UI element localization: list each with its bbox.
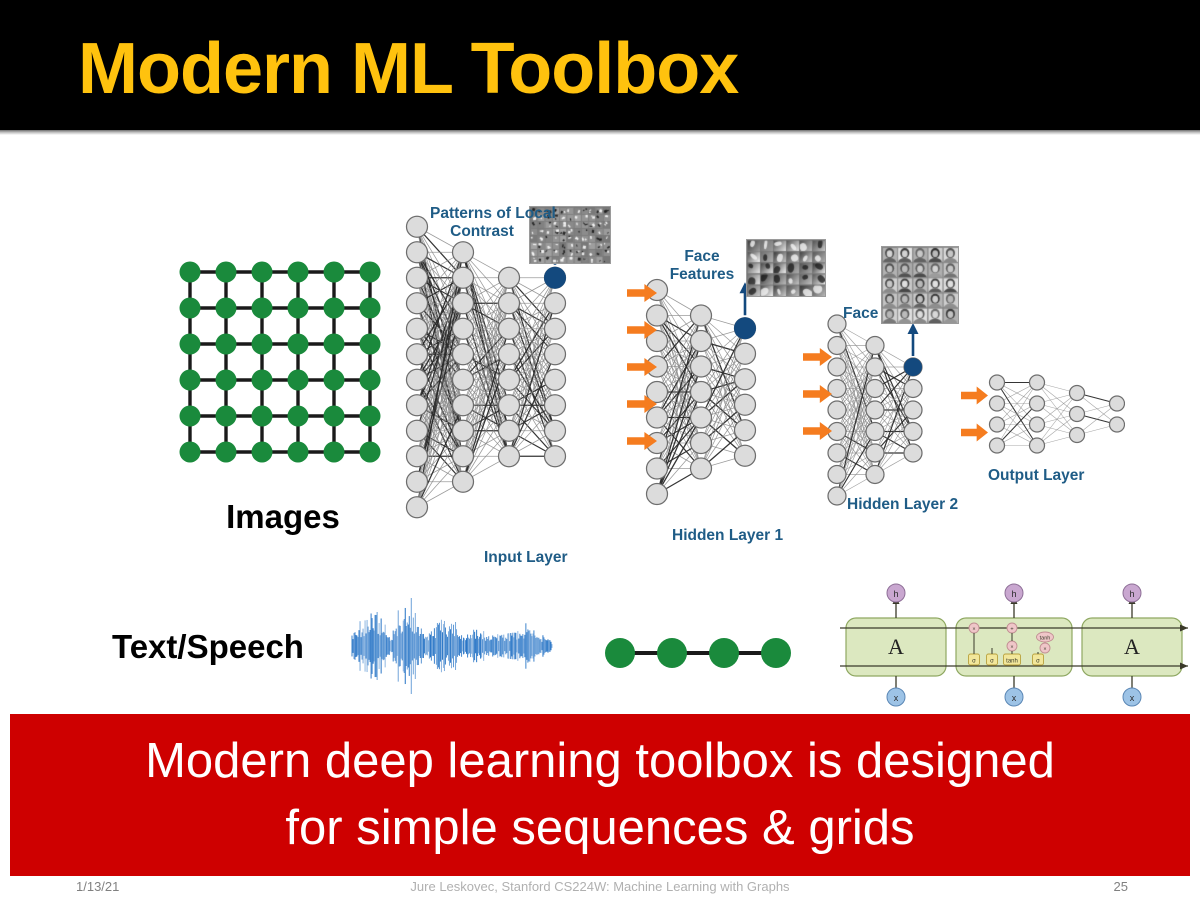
svg-text:h: h	[893, 589, 898, 599]
svg-text:A: A	[1124, 634, 1140, 659]
page-title: Modern ML Toolbox	[78, 28, 738, 110]
slide-header: Modern ML Toolbox	[0, 0, 1200, 130]
label-images: Images	[198, 498, 368, 536]
grid-graph-svg	[176, 258, 384, 466]
slide: Modern ML Toolbox Images Text/Speech	[0, 0, 1200, 900]
chain-graph-svg	[604, 632, 792, 674]
takeaway-banner: Modern deep learning toolbox is designed…	[10, 714, 1190, 876]
thumbnail-face-features	[746, 239, 826, 297]
audio-waveform-icon	[350, 598, 555, 694]
svg-text:×: ×	[1010, 644, 1013, 650]
svg-text:tanh: tanh	[1040, 635, 1051, 641]
banner-line-1: Modern deep learning toolbox is designed	[145, 728, 1055, 795]
svg-text:x: x	[1130, 693, 1135, 703]
grid-graph-images	[176, 258, 384, 466]
label-input-layer: Input Layer	[484, 549, 568, 567]
footer-page-number: 25	[1114, 879, 1128, 894]
svg-text:h: h	[1129, 589, 1134, 599]
banner-line-2: for simple sequences & grids	[285, 795, 914, 862]
label-face: Face	[843, 305, 878, 323]
label-face-features: Face Features	[664, 248, 740, 285]
footer-attribution: Jure Leskovec, Stanford CS224W: Machine …	[0, 879, 1200, 894]
waveform-svg	[350, 598, 555, 694]
svg-text:σ: σ	[972, 659, 976, 665]
svg-text:A: A	[888, 634, 904, 659]
chain-graph-sequence	[604, 632, 792, 674]
svg-text:x: x	[1012, 693, 1017, 703]
svg-text:h: h	[1011, 589, 1016, 599]
svg-text:x: x	[894, 693, 899, 703]
header-divider	[0, 130, 1200, 135]
svg-text:×: ×	[972, 626, 975, 632]
svg-text:σ: σ	[1036, 659, 1040, 665]
label-patterns-of-local-contrast: Patterns of Local Contrast	[430, 205, 534, 242]
svg-text:tanh: tanh	[1006, 659, 1018, 665]
lstm-svg: AAhxhxhxσσtanhσ×+×tanh×	[840, 580, 1188, 708]
lstm-unrolled-diagram: AAhxhxhxσσtanhσ×+×tanh×	[840, 580, 1188, 708]
svg-text:×: ×	[1043, 646, 1046, 652]
svg-text:σ: σ	[990, 659, 994, 665]
label-hidden-layer-2: Hidden Layer 2	[847, 496, 958, 514]
svg-text:+: +	[1010, 626, 1013, 632]
thumbnail-faces	[881, 246, 959, 324]
label-hidden-layer-1: Hidden Layer 1	[672, 527, 783, 545]
label-output-layer: Output Layer	[988, 467, 1084, 485]
label-text-speech: Text/Speech	[112, 628, 304, 666]
